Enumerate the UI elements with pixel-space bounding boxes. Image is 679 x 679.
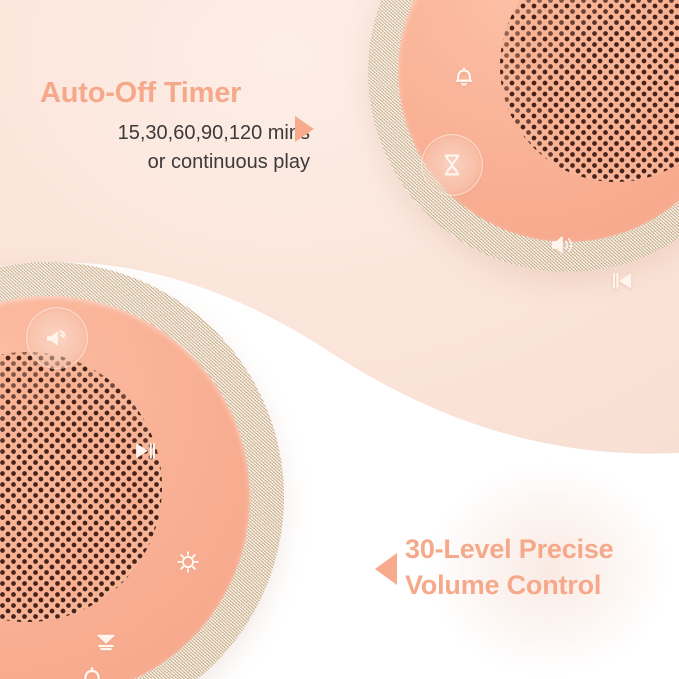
auto-off-timer-line-1: 15,30,60,90,120 mins — [40, 119, 310, 147]
speaker-grille-bottom — [0, 352, 162, 622]
grille-edge-fade — [500, 0, 679, 182]
brightness-icon[interactable] — [173, 547, 203, 577]
product-feature-image: Auto-Off Timer 15,30,60,90,120 mins or c… — [0, 0, 679, 679]
speaker-grille-top — [500, 0, 679, 182]
auto-off-timer-line-2: or continuous play — [40, 148, 310, 176]
volume-down-icon[interactable] — [91, 625, 121, 655]
bell-icon[interactable] — [449, 60, 479, 90]
callout-auto-off-timer: Auto-Off Timer 15,30,60,90,120 mins or c… — [40, 76, 310, 176]
auto-off-timer-headline: Auto-Off Timer — [40, 76, 310, 110]
grille-edge-fade — [0, 352, 162, 622]
volume-control-headline-line-1: 30-Level Precise — [405, 534, 665, 566]
callout-marker-triangle-right — [295, 116, 314, 142]
callout-volume-control: 30-Level Precise Volume Control — [405, 534, 665, 602]
previous-track-icon[interactable] — [606, 266, 636, 296]
hourglass-icon[interactable] — [437, 150, 467, 180]
volume-icon[interactable] — [547, 230, 577, 260]
callout-marker-triangle-left — [375, 553, 397, 585]
volume-control-headline-line-2: Volume Control — [405, 570, 665, 602]
bell-icon-bottom-edge[interactable] — [75, 659, 109, 679]
next-track-icon[interactable] — [129, 437, 159, 467]
volume-up-icon[interactable] — [42, 323, 72, 353]
